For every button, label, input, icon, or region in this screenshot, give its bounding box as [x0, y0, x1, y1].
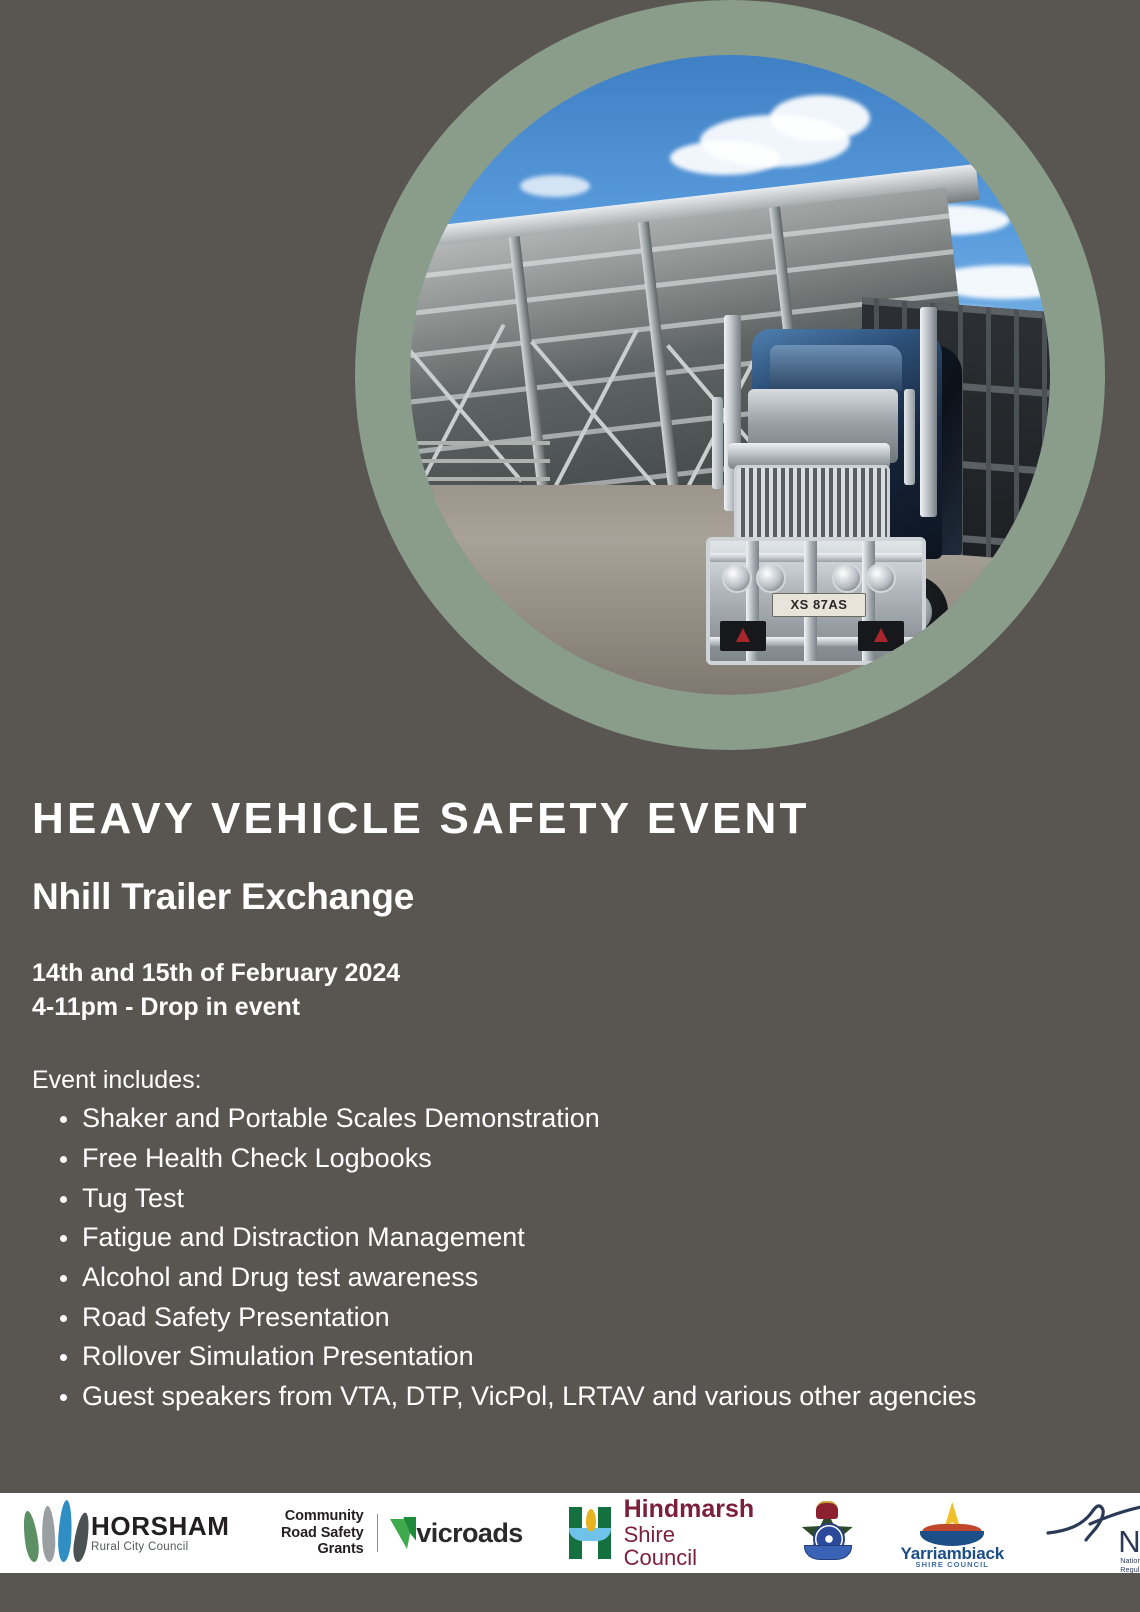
- event-details: 14th and 15th of February 2024 4-11pm - …: [32, 956, 1112, 1024]
- western-star-badge: [720, 621, 766, 651]
- includes-label: Event includes:: [32, 1066, 1112, 1095]
- hero-section: XS 87AS: [0, 0, 1140, 790]
- crown-shape: [816, 1501, 838, 1519]
- poster-content: HEAVY VEHICLE SAFETY EVENT Nhill Trailer…: [32, 796, 1112, 1417]
- nhvr-subtitle: National Heavy Vehicle Regulator: [1120, 1556, 1140, 1574]
- truck: XS 87AS: [602, 293, 1050, 693]
- exhaust-stack: [920, 307, 937, 517]
- venue-subtitle: Nhill Trailer Exchange: [32, 876, 1112, 918]
- victoria-police-crest-icon: [796, 1501, 858, 1565]
- crest-ribbon-shape: [804, 1545, 852, 1560]
- nhvr-wordmark: NHVR: [1118, 1526, 1140, 1557]
- western-star-badge: [858, 621, 904, 651]
- list-item: Tug Test: [32, 1179, 1112, 1219]
- logo-divider: [377, 1514, 378, 1552]
- logo-community-road-safety-grants-vicroads: Community Road Safety Grants vicroads: [274, 1493, 523, 1573]
- trailer-band: [862, 297, 1050, 328]
- spot-lamp: [866, 563, 896, 593]
- cloud: [520, 175, 590, 197]
- list-item: Alcohol and Drug test awareness: [32, 1258, 1112, 1298]
- yard-rail: [410, 441, 550, 445]
- trailer-slat: [1014, 309, 1019, 559]
- leaf-shape: [21, 1510, 41, 1563]
- truck-bullbar: XS 87AS: [706, 537, 926, 665]
- horsham-wordmark: HORSHAM Rural City Council: [91, 1513, 230, 1554]
- page-title: HEAVY VEHICLE SAFETY EVENT: [32, 796, 1112, 842]
- list-item: Rollover Simulation Presentation: [32, 1337, 1112, 1377]
- leaf-shape: [41, 1506, 56, 1562]
- yard-rail: [410, 459, 550, 463]
- yarriambiack-mark: Yarriambiack SHIRE COUNCIL: [900, 1502, 1004, 1564]
- crsg-line-2: Road Safety Grants: [274, 1525, 364, 1559]
- event-poster: XS 87AS HEAVY VEHICLE SAFETY EVENT Nhill…: [0, 0, 1140, 1612]
- yard-rail: [410, 477, 550, 481]
- logo-nhvr: NHVR National Heavy Vehicle Regulator: [1046, 1493, 1140, 1573]
- crsg-line-1: Community: [274, 1508, 364, 1525]
- vicroads-chevron-icon: [390, 1517, 413, 1549]
- event-times: 4-11pm - Drop in event: [32, 990, 1112, 1024]
- vicroads-wordmark: vicroads: [416, 1518, 522, 1549]
- cloud: [670, 141, 780, 175]
- list-item: Shaker and Portable Scales Demonstration: [32, 1099, 1112, 1139]
- logo-horsham-rural-city-council: HORSHAM Rural City Council: [28, 1493, 230, 1573]
- includes-list: Shaker and Portable Scales Demonstration…: [32, 1099, 1112, 1417]
- cloud: [770, 95, 870, 141]
- spot-lamp: [722, 563, 752, 593]
- side-mirror: [712, 397, 723, 489]
- logo-victoria-police: [796, 1493, 858, 1573]
- truck-wheel: [1000, 567, 1050, 629]
- hindmarsh-line-2: Shire Council: [624, 1524, 755, 1569]
- side-mirror: [904, 389, 915, 485]
- spot-lamp: [756, 563, 786, 593]
- truck-photograph: XS 87AS: [410, 55, 1050, 695]
- leaf-shape: [57, 1500, 73, 1563]
- truck-windshield: [770, 345, 902, 391]
- list-item: Fatigue and Distraction Management: [32, 1218, 1112, 1258]
- trailer-slat: [986, 307, 991, 557]
- hindmarsh-line-1: Hindmarsh: [624, 1497, 755, 1523]
- wheat-shape: [586, 1509, 596, 1531]
- spot-lamp: [832, 563, 862, 593]
- trailer-slat: [1042, 311, 1047, 561]
- horsham-subtitle: Rural City Council: [91, 1542, 230, 1554]
- list-item: Road Safety Presentation: [32, 1298, 1112, 1338]
- leaf-shape: [71, 1512, 92, 1563]
- hindmarsh-h-icon: [567, 1507, 615, 1559]
- list-item: Free Health Check Logbooks: [32, 1139, 1112, 1179]
- horsham-name: HORSHAM: [91, 1513, 230, 1539]
- logo-yarriambiack-shire-council: Yarriambiack SHIRE COUNCIL: [900, 1493, 1004, 1573]
- logo-hindmarsh-shire-council: Hindmarsh Shire Council: [567, 1493, 755, 1573]
- nhvr-mark: NHVR National Heavy Vehicle Regulator: [1046, 1502, 1140, 1564]
- list-item: Guest speakers from VTA, DTP, VicPol, LR…: [32, 1377, 1112, 1417]
- hindmarsh-wordmark: Hindmarsh Shire Council: [624, 1497, 755, 1569]
- horsham-leaves-icon: [28, 1504, 84, 1562]
- crsg-wordmark: Community Road Safety Grants: [274, 1508, 364, 1558]
- hero-photo-circle: XS 87AS: [410, 55, 1050, 695]
- license-plate: XS 87AS: [772, 593, 866, 617]
- sponsor-logo-strip: HORSHAM Rural City Council Community Roa…: [0, 1493, 1140, 1573]
- event-dates: 14th and 15th of February 2024: [32, 956, 1112, 990]
- yarriambiack-subtitle: SHIRE COUNCIL: [900, 1560, 1004, 1569]
